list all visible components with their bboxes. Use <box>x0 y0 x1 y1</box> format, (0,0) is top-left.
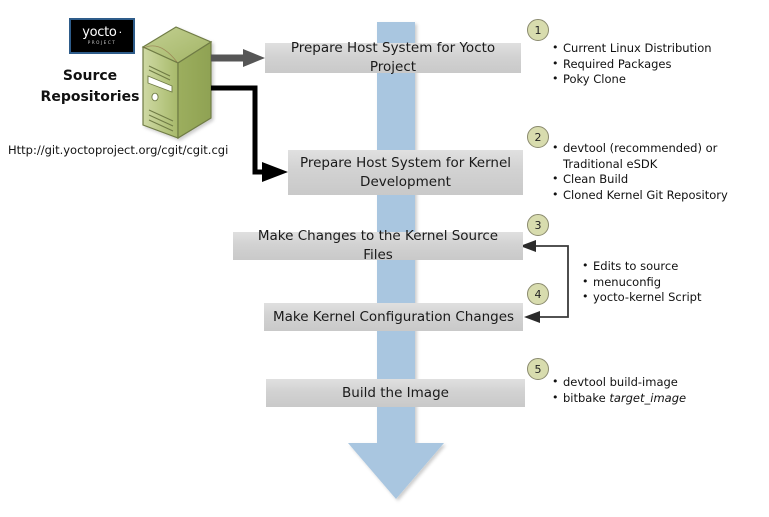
source-label-line2: Repositories <box>34 87 146 108</box>
step-number-5: 5 <box>527 358 549 380</box>
note-item: Required Packages <box>552 57 712 73</box>
logo-wordmark: yocto· <box>82 26 122 39</box>
step-box-3[interactable]: Make Changes to the Kernel Source Files <box>233 232 523 260</box>
step-box-2[interactable]: Prepare Host System for Kernel Developme… <box>288 150 523 195</box>
source-label-line1: Source <box>34 66 146 87</box>
note-item: Cloned Kernel Git Repository <box>552 188 728 204</box>
note-item: yocto-kernel Script <box>582 290 702 306</box>
diagram-canvas: yocto· PROJECT Source Repositories Http:… <box>0 0 769 517</box>
step-number-2: 2 <box>527 126 549 148</box>
step-box-4[interactable]: Make Kernel Configuration Changes <box>264 303 523 331</box>
note-item: menuconfig <box>582 275 702 291</box>
note-item: Poky Clone <box>552 72 712 88</box>
source-repositories-label: Source Repositories <box>34 66 146 108</box>
note-item: Current Linux Distribution <box>552 41 712 57</box>
logo-subtext: PROJECT <box>88 40 117 46</box>
note-item-head: bitbake <box>563 391 609 405</box>
step-2-notes-list: devtool (recommended) or Traditional eSD… <box>552 141 728 203</box>
step-3-4-notes: Edits to source menuconfig yocto-kernel … <box>582 259 702 306</box>
step-box-5[interactable]: Build the Image <box>266 379 525 407</box>
step-number-5-text: 5 <box>535 363 542 376</box>
step-box-4-label: Make Kernel Configuration Changes <box>273 308 514 327</box>
source-repositories-url: Http://git.yoctoproject.org/cgit/cgit.cg… <box>8 143 228 157</box>
step-box-3-label: Make Changes to the Kernel Source Files <box>241 227 515 265</box>
step-box-5-label: Build the Image <box>342 384 449 403</box>
step-1-notes-list: Current Linux Distribution Required Pack… <box>552 41 712 88</box>
step-box-1[interactable]: Prepare Host System for Yocto Project <box>265 43 521 73</box>
step-3-4-notes-list: Edits to source menuconfig yocto-kernel … <box>582 259 702 306</box>
feedback-loop-connector <box>520 240 568 323</box>
note-item-emphasis: target_image <box>609 391 686 405</box>
step-number-3: 3 <box>527 214 549 236</box>
step-box-1-label: Prepare Host System for Yocto Project <box>273 39 513 77</box>
server-icon <box>143 27 211 138</box>
logo-word-text: yocto <box>82 25 116 40</box>
logo-dot: · <box>119 26 122 39</box>
note-item: devtool (recommended) or Traditional eSD… <box>552 141 718 172</box>
step-number-1: 1 <box>527 19 549 41</box>
step-number-3-text: 3 <box>535 219 542 232</box>
step-1-notes: Current Linux Distribution Required Pack… <box>552 41 712 88</box>
step-number-1-text: 1 <box>535 24 542 37</box>
yocto-project-logo: yocto· PROJECT <box>69 18 135 54</box>
step-number-4-text: 4 <box>535 288 542 301</box>
step-2-notes: devtool (recommended) or Traditional eSD… <box>552 141 728 203</box>
connector-server-to-step1 <box>211 49 265 67</box>
note-item: Edits to source <box>582 259 702 275</box>
step-number-4: 4 <box>527 283 549 305</box>
note-item-italic: bitbake target_image <box>552 391 686 407</box>
note-item: Clean Build <box>552 172 728 188</box>
step-number-2-text: 2 <box>535 131 542 144</box>
step-5-notes-list: devtool build-image bitbake target_image <box>552 375 686 406</box>
connector-server-to-step2 <box>211 88 288 182</box>
step-5-notes: devtool build-image bitbake target_image <box>552 375 686 406</box>
step-box-2-label: Prepare Host System for Kernel Developme… <box>296 154 515 192</box>
note-item: devtool build-image <box>552 375 686 391</box>
